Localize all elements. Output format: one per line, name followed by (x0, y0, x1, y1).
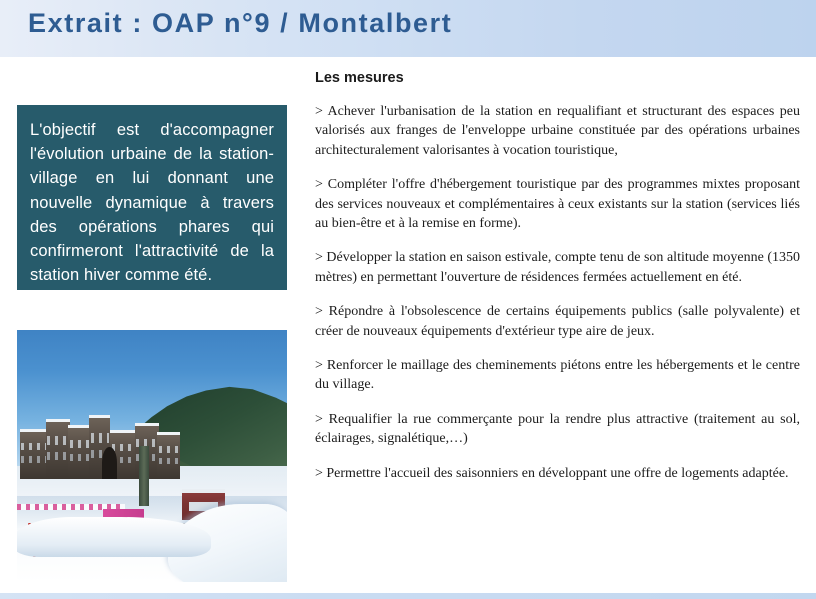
measure-item: > Répondre à l'obsolescence de certains … (315, 302, 800, 341)
objective-callout-text: L'objectif est d'accompagner l'évolution… (30, 118, 274, 287)
photo-building-archway (102, 447, 117, 478)
photo-ski-lift-pylon (139, 446, 150, 506)
measures-column: Les mesures > Achever l'urbanisation de … (315, 70, 800, 483)
measure-item: > Renforcer le maillage des cheminements… (315, 356, 800, 395)
measure-item: > Développer la station en saison estiva… (315, 248, 800, 287)
measures-heading: Les mesures (315, 70, 800, 86)
page-title: Extrait : OAP n°9 / Montalbert (28, 8, 452, 39)
objective-callout-box: L'objectif est d'accompagner l'évolution… (17, 105, 287, 290)
photo-building (46, 419, 70, 478)
measure-item: > Permettre l'accueil des saisonniers en… (315, 464, 800, 483)
measure-item: > Requalifier la rue commerçante pour la… (315, 410, 800, 449)
ski-resort-photo (17, 330, 287, 582)
photo-snow-ridge (17, 517, 211, 557)
photo-chalet-buildings (20, 413, 182, 479)
photo-building (68, 425, 91, 479)
page-footer-band (0, 593, 816, 599)
photo-building (20, 429, 48, 479)
measure-item: > Achever l'urbanisation de la station e… (315, 102, 800, 160)
page-header-band: Extrait : OAP n°9 / Montalbert (0, 0, 816, 57)
photo-illustration (17, 330, 287, 582)
measure-item: > Compléter l'offre d'hébergement touris… (315, 175, 800, 233)
photo-building (157, 432, 180, 478)
